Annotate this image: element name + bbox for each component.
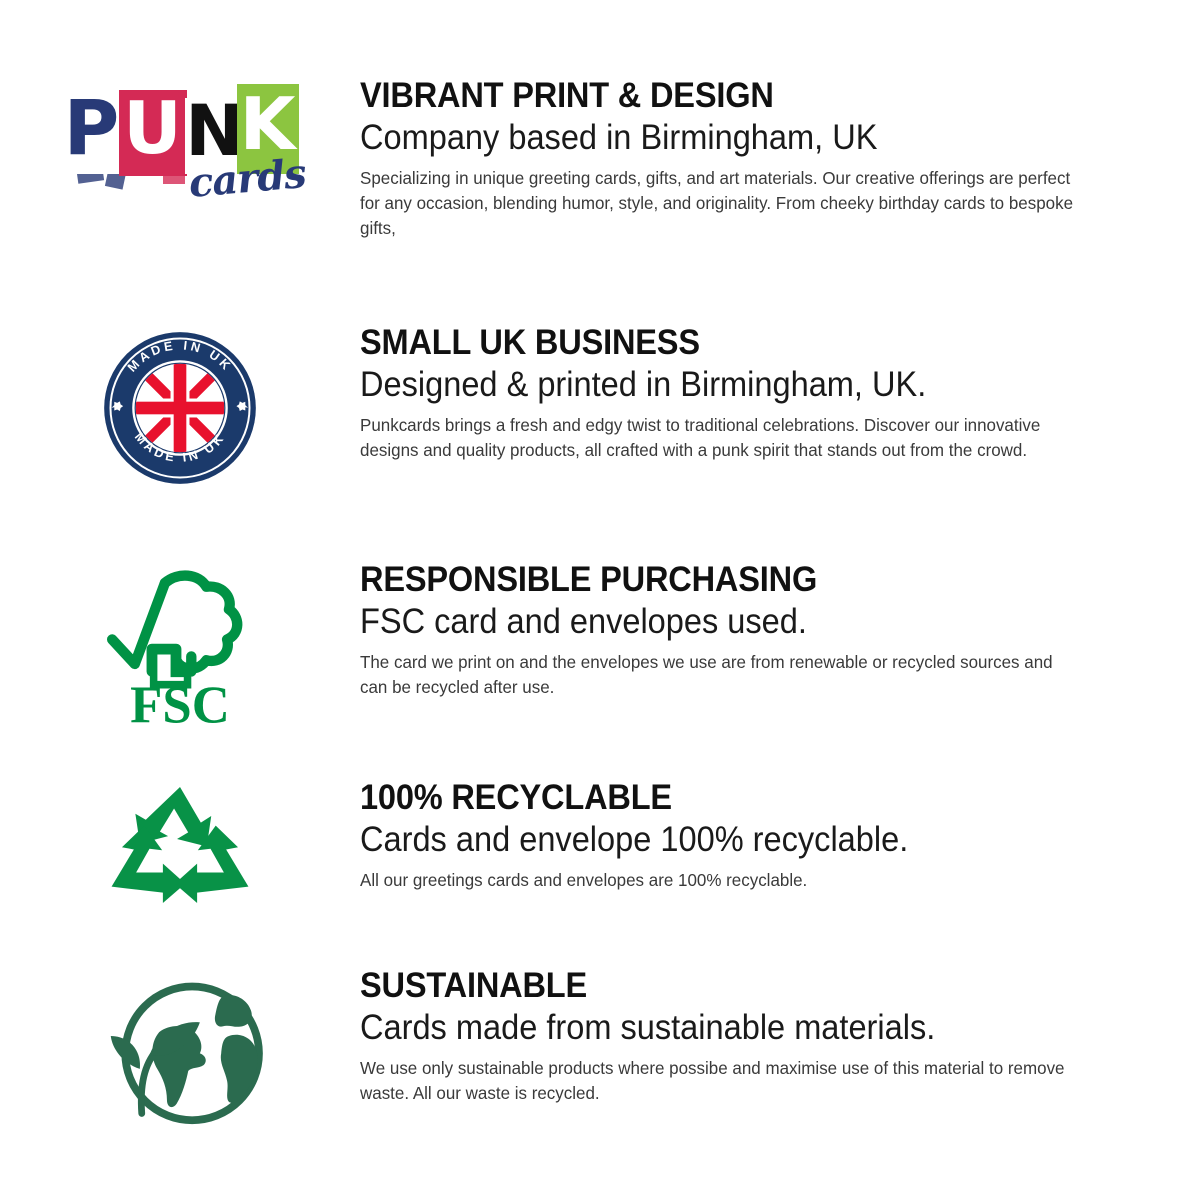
globe-sprout-icon xyxy=(83,972,278,1127)
punk-letter-p-glyph: P xyxy=(64,83,120,172)
icon-cell xyxy=(0,780,360,906)
feature-title: VIBRANT PRINT & DESIGN xyxy=(360,78,1048,114)
feature-text: RESPONSIBLE PURCHASING FSC card and enve… xyxy=(360,562,1200,700)
feature-list-page: P U N K cards VIBRANT PRINT & DESIGN Com… xyxy=(0,0,1200,1200)
feature-title: SMALL UK BUSINESS xyxy=(360,325,1048,361)
feature-title: 100% RECYCLABLE xyxy=(360,780,1048,816)
feature-subtitle: Cards made from sustainable materials. xyxy=(360,1008,1048,1047)
icon-cell: P U N K cards xyxy=(0,78,360,197)
feature-body: All our greetings cards and envelopes ar… xyxy=(360,868,1078,893)
punk-letter-p: P xyxy=(63,96,125,174)
icon-cell: FSC xyxy=(0,562,360,728)
fsc-label-text: FSC xyxy=(130,676,230,728)
made-in-uk-badge-icon: MADE IN UK MADE IN UK xyxy=(101,329,259,487)
feature-row-100-recyclable: 100% RECYCLABLE Cards and envelope 100% … xyxy=(0,780,1200,906)
feature-body: Specializing in unique greeting cards, g… xyxy=(360,166,1078,241)
feature-body: The card we print on and the envelopes w… xyxy=(360,650,1078,700)
fsc-logo-icon: FSC xyxy=(104,566,256,728)
icon-cell: MADE IN UK MADE IN UK xyxy=(0,325,360,487)
feature-text: VIBRANT PRINT & DESIGN Company based in … xyxy=(360,78,1200,240)
feature-text: 100% RECYCLABLE Cards and envelope 100% … xyxy=(360,780,1200,893)
feature-subtitle: FSC card and envelopes used. xyxy=(360,602,1048,641)
icon-cell xyxy=(0,968,360,1127)
punkcards-wordmark: cards xyxy=(186,150,306,207)
feature-subtitle: Designed & printed in Birmingham, UK. xyxy=(360,365,1048,404)
feature-row-small-uk-business: MADE IN UK MADE IN UK SMALL UK BUSINESS … xyxy=(0,325,1200,487)
feature-text: SUSTAINABLE Cards made from sustainable … xyxy=(360,968,1200,1106)
feature-text: SMALL UK BUSINESS Designed & printed in … xyxy=(360,325,1200,463)
punk-letter-u: U xyxy=(119,90,187,176)
feature-title: RESPONSIBLE PURCHASING xyxy=(360,562,1048,598)
feature-body: Punkcards brings a fresh and edgy twist … xyxy=(360,413,1078,463)
feature-subtitle: Cards and envelope 100% recyclable. xyxy=(360,820,1048,859)
feature-row-vibrant-print-design: P U N K cards VIBRANT PRINT & DESIGN Com… xyxy=(0,78,1200,240)
feature-body: We use only sustainable products where p… xyxy=(360,1056,1078,1106)
punk-letter-u-glyph: U xyxy=(123,86,181,170)
feature-row-sustainable: SUSTAINABLE Cards made from sustainable … xyxy=(0,968,1200,1127)
feature-subtitle: Company based in Birmingham, UK xyxy=(360,118,1048,157)
recycle-symbol-icon xyxy=(105,784,255,906)
punkcards-logo: P U N K cards xyxy=(63,82,298,197)
feature-title: SUSTAINABLE xyxy=(360,968,1048,1004)
feature-row-responsible-purchasing: FSC RESPONSIBLE PURCHASING FSC card and … xyxy=(0,562,1200,728)
